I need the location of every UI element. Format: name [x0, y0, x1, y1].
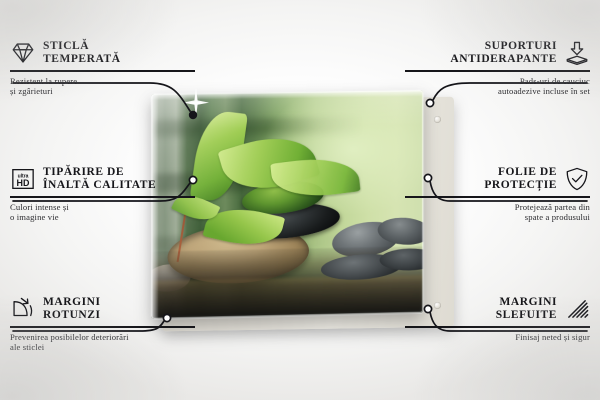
- feature-title-line2: TEMPERATĂ: [43, 53, 121, 66]
- feature-title-line1: FOLIE DE: [484, 166, 557, 179]
- feature-title-line1: SUPORTURI: [450, 40, 557, 53]
- feature-sub-line1: Pads-uri de cauciuc: [405, 76, 590, 86]
- feature-suporturi-antiderapante: SUPORTURI ANTIDERAPANTE Pads-uri de cauc…: [405, 40, 590, 96]
- feature-tiparire-calitate: ultra HD TIPĂRIRE DE ÎNALTĂ CALITATE Cul…: [10, 166, 195, 222]
- rubber-pad-top: [434, 116, 441, 123]
- polished-edge-icon: [564, 296, 590, 322]
- feature-sub-line2: autoadezive incluse în set: [405, 86, 590, 96]
- infographic-canvas: STICLĂ TEMPERATĂ Rezistent la rupere și …: [0, 0, 600, 400]
- feature-title-line1: MARGINI: [43, 296, 101, 309]
- feature-sub-line2: și zgârieturi: [10, 86, 195, 96]
- feature-title-line2: PROTECȚIE: [484, 179, 557, 192]
- feature-title-line2: SLEFUITE: [496, 309, 557, 322]
- feature-sub-line2: spate a produsului: [405, 212, 590, 222]
- feature-sub-line1: Protejează partea din: [405, 202, 590, 212]
- feature-sub-line2: o imagine vie: [10, 212, 195, 222]
- feature-sub-line1: Culori intense și: [10, 202, 195, 212]
- feature-sub-line1: Finisaj neted și sigur: [405, 332, 590, 342]
- ultra-hd-icon: ultra HD: [10, 166, 36, 192]
- anti-slip-pad-icon: [564, 40, 590, 66]
- rounded-corner-icon: [10, 296, 36, 322]
- feature-divider: [405, 70, 590, 72]
- feature-title-line1: STICLĂ: [43, 40, 121, 53]
- feature-divider: [10, 70, 195, 72]
- feature-sub-line2: ale sticlei: [10, 342, 195, 352]
- feature-title-line1: TIPĂRIRE DE: [43, 166, 156, 179]
- feature-divider: [10, 326, 195, 328]
- svg-text:HD: HD: [17, 178, 30, 188]
- feature-margini-rotunzi: MARGINI ROTUNZI Prevenirea posibilelor d…: [10, 296, 195, 352]
- feature-title-line2: ÎNALTĂ CALITATE: [43, 179, 156, 192]
- shield-check-icon: [564, 166, 590, 192]
- feature-title-line1: MARGINI: [496, 296, 557, 309]
- feature-divider: [405, 326, 590, 328]
- diamond-icon: [10, 40, 36, 66]
- feature-divider: [405, 196, 590, 198]
- feature-folie-de-protectie: FOLIE DE PROTECȚIE Protejează partea din…: [405, 166, 590, 222]
- feature-title-line2: ANTIDERAPANTE: [450, 53, 557, 66]
- feature-margini-slefuite: MARGINI SLEFUITE Finisaj neted și sigur: [405, 296, 590, 342]
- feature-sticla-temperata: STICLĂ TEMPERATĂ Rezistent la rupere și …: [10, 40, 195, 96]
- feature-title-line2: ROTUNZI: [43, 309, 101, 322]
- feature-sub-line1: Rezistent la rupere: [10, 76, 195, 86]
- feature-sub-line1: Prevenirea posibilelor deteriorări: [10, 332, 195, 342]
- feature-divider: [10, 196, 195, 198]
